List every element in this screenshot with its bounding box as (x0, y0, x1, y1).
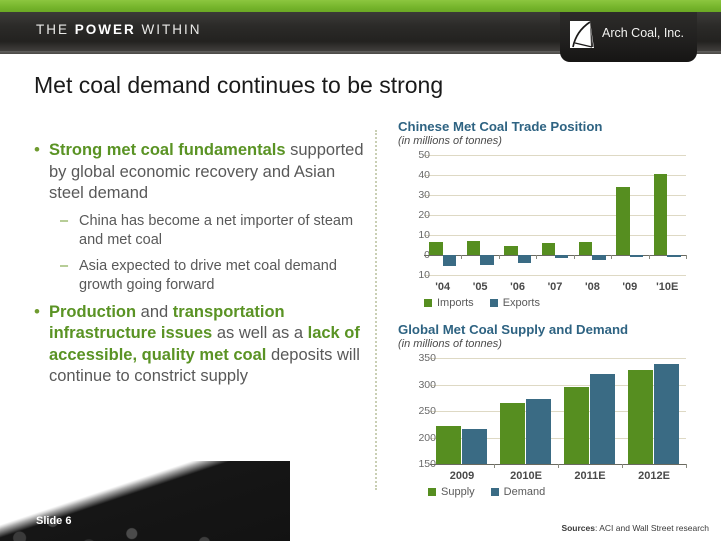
y-axis-tick-label: 10 (400, 269, 430, 281)
gridline (424, 235, 686, 236)
sub-bullet-item: China has become a net importer of steam… (32, 212, 372, 251)
x-axis-tick (649, 255, 650, 259)
x-axis-tick (494, 464, 495, 468)
legend-swatch (491, 488, 499, 496)
chart-bar (429, 242, 442, 255)
legend-swatch (424, 299, 432, 307)
legend-swatch (490, 299, 498, 307)
y-axis-tick-label: 250 (406, 405, 436, 417)
x-axis-tick-label: '07 (536, 281, 573, 293)
x-axis-tick (574, 255, 575, 259)
chart-bar (526, 399, 551, 464)
y-axis-tick-label: 200 (406, 432, 436, 444)
sources-label: Sources (561, 523, 595, 533)
page-title: Met coal demand continues to be strong (34, 72, 443, 99)
header-green-stripe (0, 0, 721, 12)
bullet-item: Strong met coal fundamentals supported b… (32, 140, 372, 205)
x-axis-tick (499, 255, 500, 259)
x-axis-tick (536, 255, 537, 259)
bullet-run: and (136, 303, 173, 321)
tagline-bold: POWER (75, 22, 136, 37)
chart-bar (579, 242, 592, 255)
x-axis-tick-label: '10E (649, 281, 686, 293)
chart-bar (500, 403, 525, 464)
chart1-subtitle: (in millions of tonnes) (398, 135, 698, 147)
x-axis-tick (622, 464, 623, 468)
tagline-pre: THE (36, 22, 75, 37)
x-axis-tick (461, 255, 462, 259)
chart-bar (467, 241, 480, 255)
bullet-item: Production and transportation infrastruc… (32, 302, 372, 388)
coal-pile-image (0, 456, 290, 541)
chart-chinese-met-coal-trade-position: Chinese Met Coal Trade Position (in mill… (398, 119, 698, 309)
gridline (424, 155, 686, 156)
arch-coal-logo-icon (568, 19, 596, 50)
chart-bar (590, 374, 615, 464)
chart-bar (654, 364, 679, 464)
chart-bar (518, 255, 531, 263)
gridline (424, 275, 686, 276)
sub-bullet-item: Asia expected to drive met coal demand g… (32, 257, 372, 296)
legend-item: Demand (491, 486, 546, 498)
x-axis-tick-label: '04 (424, 281, 461, 293)
chart2-title: Global Met Coal Supply and Demand (398, 322, 698, 337)
chart-bar (542, 243, 555, 255)
bullet-run: Strong met coal fundamentals (49, 141, 286, 159)
chart-bar (616, 187, 629, 255)
legend-swatch (428, 488, 436, 496)
bullet-list: Strong met coal fundamentals supported b… (32, 140, 372, 395)
x-axis-tick-label: '09 (611, 281, 648, 293)
gridline (430, 358, 686, 359)
bullet-run: Production (49, 303, 136, 321)
x-axis-tick-label: '06 (499, 281, 536, 293)
chart-bar (564, 387, 589, 464)
x-axis-tick (686, 464, 687, 468)
chart-bar (628, 370, 653, 464)
x-axis-tick-label: 2010E (494, 470, 558, 482)
chart1-plot-area: 5040302010010'04'05'06'07'08'09'10E (398, 155, 698, 275)
chart-bar (443, 255, 456, 266)
legend-label: Supply (441, 486, 475, 498)
x-axis-tick (686, 255, 687, 259)
y-axis-tick-label: 50 (400, 149, 430, 161)
bullet-text: Asia expected to drive met coal demand g… (79, 258, 337, 294)
x-axis-tick-label: 2009 (430, 470, 494, 482)
header-tagline: THE POWER WITHIN (36, 22, 202, 37)
y-axis-tick-label: 350 (406, 352, 436, 364)
logo-text: Arch Coal, Inc. (602, 26, 684, 40)
legend-item: Imports (424, 297, 474, 309)
x-axis-tick-label: '05 (461, 281, 498, 293)
chart2-legend: SupplyDemand (428, 486, 698, 498)
slide-canvas: THE POWER WITHIN Arch Coal, Inc. Met coa… (0, 0, 721, 541)
y-axis-tick-label: 300 (406, 379, 436, 391)
legend-label: Demand (504, 486, 546, 498)
chart-bar (480, 255, 493, 265)
logo-plate: Arch Coal, Inc. (560, 12, 697, 62)
sources-note: Sources: ACI and Wall Street research (561, 523, 709, 533)
chart-bar (436, 426, 461, 464)
bullet-text: China has become a net importer of steam… (79, 213, 353, 249)
y-axis-tick-label: 30 (400, 189, 430, 201)
x-axis-tick-label: 2011E (558, 470, 622, 482)
chart1-title: Chinese Met Coal Trade Position (398, 119, 698, 134)
bullet-run: as well as a (212, 324, 307, 342)
tagline-post: WITHIN (136, 22, 202, 37)
legend-item: Exports (490, 297, 540, 309)
chart-bar (555, 255, 568, 258)
coal-pile-texture (0, 461, 290, 541)
chart2-subtitle: (in millions of tonnes) (398, 338, 698, 350)
gridline (424, 175, 686, 176)
chart2-plot-area: 35030025020015020092010E2011E2012E (398, 358, 698, 464)
chart-bar (504, 246, 517, 255)
sources-text: : ACI and Wall Street research (595, 523, 709, 533)
legend-label: Imports (437, 297, 474, 309)
y-axis-tick-label: 20 (400, 209, 430, 221)
chart-bar (630, 255, 643, 257)
legend-label: Exports (503, 297, 540, 309)
chart-bar (654, 174, 667, 255)
chart1-legend: ImportsExports (424, 297, 698, 309)
x-axis-tick (558, 464, 559, 468)
x-axis-tick-label: 2012E (622, 470, 686, 482)
gridline (424, 215, 686, 216)
vertical-divider (375, 130, 377, 490)
legend-item: Supply (428, 486, 475, 498)
chart-bar (667, 255, 680, 257)
y-axis-tick-label: 10 (400, 229, 430, 241)
chart-global-met-coal-supply-and-demand: Global Met Coal Supply and Demand (in mi… (398, 322, 698, 498)
slide-number: Slide 6 (36, 515, 71, 527)
x-axis-tick-label: '08 (574, 281, 611, 293)
x-axis-tick (611, 255, 612, 259)
y-axis-tick-label: 40 (400, 169, 430, 181)
gridline (424, 195, 686, 196)
chart-bar (592, 255, 605, 260)
chart-bar (462, 429, 487, 464)
